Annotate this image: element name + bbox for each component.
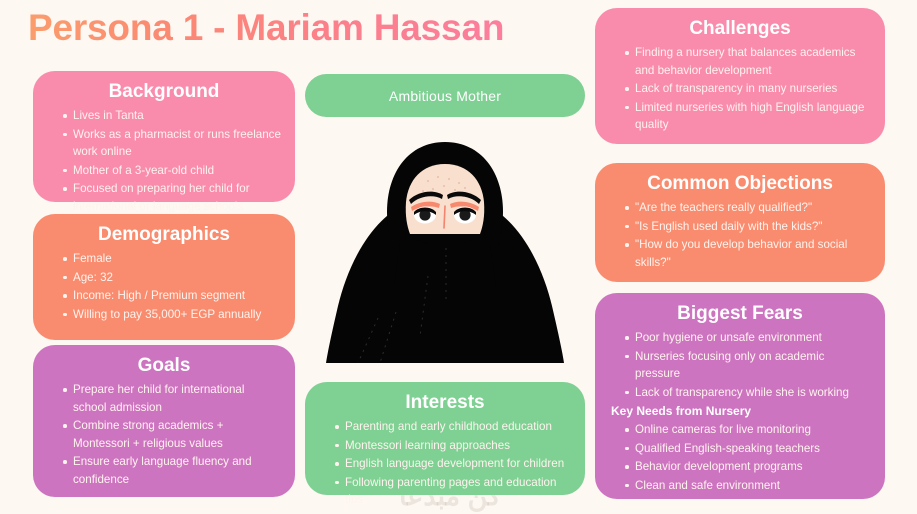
list-item: Willing to pay 35,000+ EGP annually bbox=[63, 306, 281, 324]
card-goals-title: Goals bbox=[47, 353, 281, 379]
list-item: Limited nurseries with high English lang… bbox=[625, 99, 871, 134]
card-demographics-title: Demographics bbox=[47, 222, 281, 248]
card-background-list: Lives in Tanta Works as a pharmacist or … bbox=[47, 107, 281, 215]
card-biggest-fears-title: Biggest Fears bbox=[609, 301, 871, 327]
list-item: English language development for childre… bbox=[335, 455, 571, 473]
list-item: Ensure early language fluency and confid… bbox=[63, 453, 281, 488]
card-challenges: Challenges Finding a nursery that balanc… bbox=[595, 8, 885, 144]
list-item: Finding a nursery that balances academic… bbox=[625, 44, 871, 79]
card-interests-list: Parenting and early childhood education … bbox=[319, 418, 571, 509]
list-item: Income: High / Premium segment bbox=[63, 287, 281, 305]
card-demographics: Demographics Female Age: 32 Income: High… bbox=[33, 214, 295, 340]
list-item: Female bbox=[63, 250, 281, 268]
card-biggest-fears-list: Poor hygiene or unsafe environment Nurse… bbox=[609, 329, 871, 401]
list-item: Age: 32 bbox=[63, 269, 281, 287]
card-goals: Goals Prepare her child for internationa… bbox=[33, 345, 295, 497]
card-demographics-list: Female Age: 32 Income: High / Premium se… bbox=[47, 250, 281, 323]
persona-badge-label: Ambitious Mother bbox=[389, 88, 501, 104]
list-item: Nurseries focusing only on academic pres… bbox=[625, 348, 871, 383]
list-item: Parenting and early childhood education bbox=[335, 418, 571, 436]
list-item: Combine strong academics + Montessori + … bbox=[63, 417, 281, 452]
list-item: Clean and safe environment bbox=[625, 477, 871, 495]
list-item: Qualified English-speaking teachers bbox=[625, 440, 871, 458]
list-item: Poor hygiene or unsafe environment bbox=[625, 329, 871, 347]
woman-in-niqab-illustration bbox=[310, 136, 580, 363]
list-item: Lack of transparency while she is workin… bbox=[625, 384, 871, 402]
card-common-objections-title: Common Objections bbox=[609, 171, 871, 197]
list-item: "Is English used daily with the kids?" bbox=[625, 218, 871, 236]
list-item: Lives in Tanta bbox=[63, 107, 281, 125]
list-item: Mother of a 3-year-old child bbox=[63, 162, 281, 180]
persona-badge: Ambitious Mother bbox=[305, 74, 585, 117]
page-title: Persona 1 - Mariam Hassan bbox=[28, 4, 504, 52]
card-biggest-fears: Biggest Fears Poor hygiene or unsafe env… bbox=[595, 293, 885, 499]
list-item: Online cameras for live monitoring bbox=[625, 421, 871, 439]
card-challenges-title: Challenges bbox=[609, 16, 871, 42]
card-goals-list: Prepare her child for international scho… bbox=[47, 381, 281, 488]
key-needs-list: Online cameras for live monitoring Quali… bbox=[609, 421, 871, 494]
list-item: Prepare her child for international scho… bbox=[63, 381, 281, 416]
list-item: Focused on preparing her child for inter… bbox=[63, 180, 281, 215]
list-item: "Are the teachers really qualified?" bbox=[625, 199, 871, 217]
card-common-objections-list: "Are the teachers really qualified?" "Is… bbox=[609, 199, 871, 271]
persona-infographic: Persona 1 - Mariam Hassan Background Liv… bbox=[0, 0, 917, 514]
list-item: Following parenting pages and education … bbox=[335, 474, 571, 509]
card-background: Background Lives in Tanta Works as a pha… bbox=[33, 71, 295, 202]
card-background-title: Background bbox=[47, 79, 281, 105]
list-item: Behavior development programs bbox=[625, 458, 871, 476]
list-item: Works as a pharmacist or runs freelance … bbox=[63, 126, 281, 161]
list-item: "How do you develop behavior and social … bbox=[625, 236, 871, 271]
list-item: Lack of transparency in many nurseries bbox=[625, 80, 871, 98]
card-interests-title: Interests bbox=[319, 390, 571, 416]
key-needs-subheading: Key Needs from Nursery bbox=[611, 403, 871, 420]
list-item: Montessori learning approaches bbox=[335, 437, 571, 455]
card-challenges-list: Finding a nursery that balances academic… bbox=[609, 44, 871, 134]
card-interests: Interests Parenting and early childhood … bbox=[305, 382, 585, 495]
card-common-objections: Common Objections "Are the teachers real… bbox=[595, 163, 885, 282]
